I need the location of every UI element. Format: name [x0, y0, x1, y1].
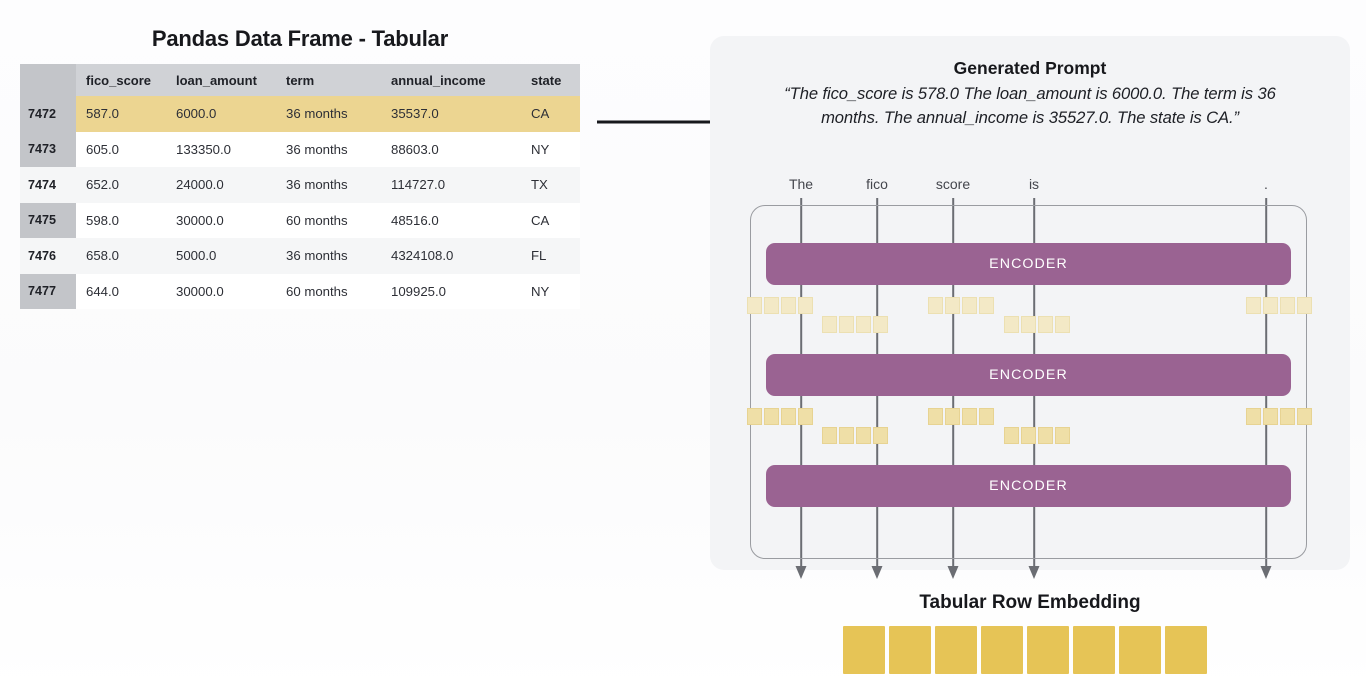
token-cell — [1004, 316, 1019, 333]
table-cell-annual-income: 48516.0 — [381, 203, 521, 239]
row-index-cell: 7473 — [20, 132, 76, 168]
table-cell-fico-score: 598.0 — [76, 203, 166, 239]
encoder-block-2[interactable]: ENCODER — [766, 354, 1291, 396]
token-cell — [1263, 297, 1278, 314]
table-header-row: fico_score loan_amount term annual_incom… — [20, 64, 580, 96]
table-row[interactable]: 7474652.024000.036 months114727.0TX — [20, 167, 580, 203]
token-cell — [1055, 316, 1070, 333]
model-panel: Generated Prompt “The fico_score is 578.… — [710, 36, 1350, 570]
token-label-2: score — [936, 176, 970, 192]
token-cell-cluster-0 — [747, 297, 813, 314]
token-label-4: . — [1264, 176, 1268, 192]
token-cell — [1004, 427, 1019, 444]
page-title: Pandas Data Frame - Tabular — [20, 26, 580, 52]
table-cell-state: TX — [521, 167, 580, 203]
token-cell — [822, 316, 837, 333]
token-cell — [873, 427, 888, 444]
generated-prompt-text: “The fico_score is 578.0 The loan_amount… — [780, 82, 1280, 130]
table-row[interactable]: 7477644.030000.060 months109925.0NY — [20, 274, 580, 310]
table-cell-loan-amount: 24000.0 — [166, 167, 276, 203]
table-cell-fico-score: 587.0 — [76, 96, 166, 132]
token-cell — [822, 427, 837, 444]
table-cell-loan-amount: 6000.0 — [166, 96, 276, 132]
column-header-index — [20, 64, 76, 96]
table-cell-annual-income: 35537.0 — [381, 96, 521, 132]
encoder-block-1[interactable]: ENCODER — [766, 243, 1291, 285]
table-body: 7472587.06000.036 months35537.0CA7473605… — [20, 96, 580, 309]
token-cell — [1021, 427, 1036, 444]
encoder-block-3[interactable]: ENCODER — [766, 465, 1291, 507]
embedding-title: Tabular Row Embedding — [710, 592, 1350, 614]
token-cell-cluster-3 — [822, 316, 888, 333]
token-label-3: is — [1029, 176, 1039, 192]
column-header-state: state — [521, 64, 580, 96]
token-cell — [798, 408, 813, 425]
table-cell-loan-amount: 30000.0 — [166, 274, 276, 310]
token-cell — [1055, 427, 1070, 444]
table-cell-term: 36 months — [276, 167, 381, 203]
token-cell-cluster-7 — [1246, 408, 1312, 425]
table-row[interactable]: 7476658.05000.036 months4324108.0FL — [20, 238, 580, 274]
token-cell — [1280, 297, 1295, 314]
table-cell-annual-income: 88603.0 — [381, 132, 521, 168]
table-cell-fico-score: 644.0 — [76, 274, 166, 310]
token-cell — [764, 297, 779, 314]
table-row[interactable]: 7475598.030000.060 months48516.0CA — [20, 203, 580, 239]
table-cell-state: CA — [521, 96, 580, 132]
table-cell-annual-income: 114727.0 — [381, 167, 521, 203]
token-cell — [1038, 427, 1053, 444]
table-cell-annual-income: 109925.0 — [381, 274, 521, 310]
dataframe-table: fico_score loan_amount term annual_incom… — [20, 64, 580, 309]
embedding-cell — [981, 626, 1023, 674]
token-cell — [945, 297, 960, 314]
token-cell-cluster-9 — [1004, 427, 1070, 444]
token-cell-cluster-5 — [747, 408, 813, 425]
token-cell — [1246, 408, 1261, 425]
arrow-down-icon-4 — [1260, 564, 1273, 580]
token-cell — [781, 408, 796, 425]
token-cell — [1263, 408, 1278, 425]
token-label-0: The — [789, 176, 813, 192]
token-cell — [1297, 408, 1312, 425]
row-index-cell: 7472 — [20, 96, 76, 132]
token-cell — [945, 408, 960, 425]
table-cell-state: FL — [521, 238, 580, 274]
embedding-cell — [1027, 626, 1069, 674]
table-cell-term: 60 months — [276, 274, 381, 310]
token-cell-cluster-8 — [822, 427, 888, 444]
table-cell-term: 36 months — [276, 132, 381, 168]
token-cell — [1280, 408, 1295, 425]
token-cell — [798, 297, 813, 314]
token-cell — [873, 316, 888, 333]
table-cell-term: 60 months — [276, 203, 381, 239]
row-index-cell: 7476 — [20, 238, 76, 274]
table-cell-state: NY — [521, 132, 580, 168]
token-cell — [928, 297, 943, 314]
table-cell-loan-amount: 133350.0 — [166, 132, 276, 168]
table-cell-state: NY — [521, 274, 580, 310]
row-index-cell: 7477 — [20, 274, 76, 310]
table-row[interactable]: 7472587.06000.036 months35537.0CA — [20, 96, 580, 132]
table-row[interactable]: 7473605.0133350.036 months88603.0NY — [20, 132, 580, 168]
table-cell-state: CA — [521, 203, 580, 239]
token-cell — [839, 316, 854, 333]
column-header-term: term — [276, 64, 381, 96]
token-cell — [764, 408, 779, 425]
token-cell — [979, 297, 994, 314]
column-header-fico-score: fico_score — [76, 64, 166, 96]
embedding-cell — [935, 626, 977, 674]
token-cell — [1246, 297, 1261, 314]
token-cell — [979, 408, 994, 425]
embedding-cell — [1073, 626, 1115, 674]
arrow-down-icon-3 — [1028, 564, 1041, 580]
token-cell — [839, 427, 854, 444]
table-cell-fico-score: 605.0 — [76, 132, 166, 168]
row-index-cell: 7474 — [20, 167, 76, 203]
embedding-cell — [1119, 626, 1161, 674]
embedding-cells — [843, 626, 1207, 674]
table-cell-fico-score: 652.0 — [76, 167, 166, 203]
token-cell — [1297, 297, 1312, 314]
arrow-down-icon-1 — [871, 564, 884, 580]
table-cell-term: 36 months — [276, 238, 381, 274]
token-cell — [962, 297, 977, 314]
token-cell — [856, 427, 871, 444]
table-cell-annual-income: 4324108.0 — [381, 238, 521, 274]
token-cell — [962, 408, 977, 425]
token-cell-cluster-2 — [1246, 297, 1312, 314]
row-index-cell: 7475 — [20, 203, 76, 239]
token-cell-cluster-6 — [928, 408, 994, 425]
arrow-down-icon-0 — [795, 564, 808, 580]
embedding-cell — [843, 626, 885, 674]
table-cell-term: 36 months — [276, 96, 381, 132]
table-header: fico_score loan_amount term annual_incom… — [20, 64, 580, 96]
token-cell — [928, 408, 943, 425]
table-cell-fico-score: 658.0 — [76, 238, 166, 274]
table-cell-loan-amount: 30000.0 — [166, 203, 276, 239]
column-header-annual-income: annual_income — [381, 64, 521, 96]
token-cell-cluster-4 — [1004, 316, 1070, 333]
embedding-cell — [889, 626, 931, 674]
token-cell — [747, 297, 762, 314]
token-cell — [1038, 316, 1053, 333]
embedding-cell — [1165, 626, 1207, 674]
token-cell — [1021, 316, 1036, 333]
token-cell — [781, 297, 796, 314]
table-cell-loan-amount: 5000.0 — [166, 238, 276, 274]
token-cell — [747, 408, 762, 425]
arrow-down-icon-2 — [947, 564, 960, 580]
token-cell — [856, 316, 871, 333]
column-header-loan-amount: loan_amount — [166, 64, 276, 96]
generated-prompt-title: Generated Prompt — [710, 58, 1350, 79]
token-cell-cluster-1 — [928, 297, 994, 314]
token-label-1: fico — [866, 176, 888, 192]
